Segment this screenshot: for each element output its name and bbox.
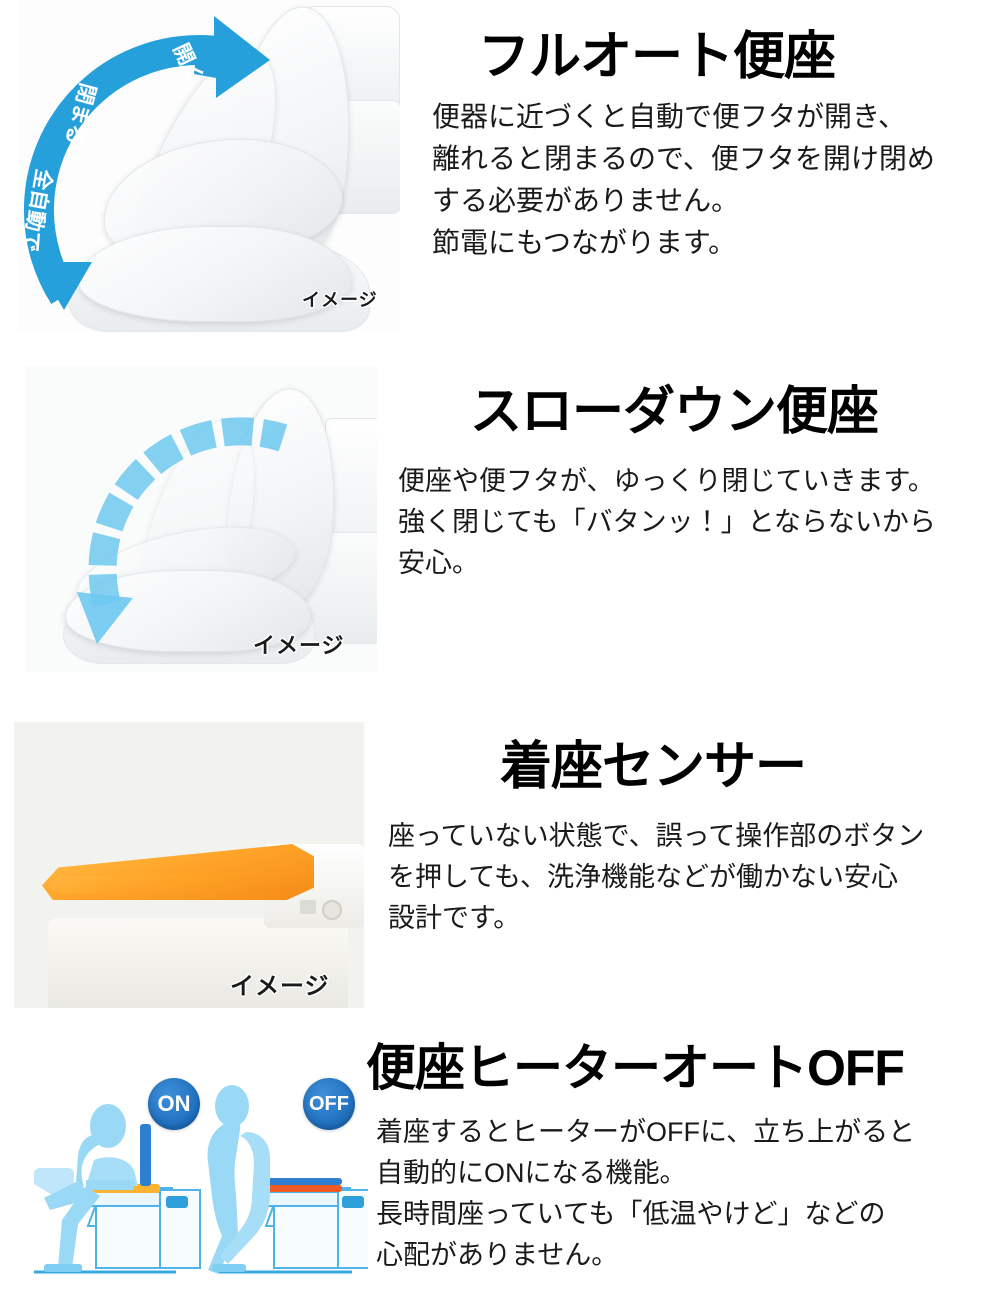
feature-section-full-auto-seat: 開く 閉まる 全自動で イメージ フルオート便座 便器に近づくと自動で便フタが開… [0,0,1000,345]
image-caption-imeji: イメージ [230,966,330,1001]
auto-open-close-arrow-icon [18,0,400,332]
section-title-seating-sensor: 着座センサー [500,724,806,799]
image-caption-imeji: イメージ [253,628,345,660]
seat-hinge-shape [300,900,316,914]
feature-section-seating-sensor: イメージ 着座センサー 座っていない状態で、誤って操作部のボタン を押しても、洗… [0,710,1000,1015]
feature-image-full-auto-seat: 開く 閉まる 全自動で イメージ [18,0,400,332]
status-badge-on: ON [148,1078,200,1130]
section-body-seating-sensor: 座っていない状態で、誤って操作部のボタン を押しても、洗浄機能などが働かない安心… [388,816,998,939]
feature-section-slow-down-seat: イメージ スローダウン便座 便座や便フタが、ゆっくり閉じていきます。 強く閉じて… [0,355,1000,685]
section-body-seat-heater-auto-off: 着座するとヒーターがOFFに、立ち上がると 自動的にONになる機能。 長時間座っ… [376,1112,996,1276]
image-caption-imeji: イメージ [302,286,378,312]
section-body-full-auto-seat: 便器に近づくと自動で便フタが開き、 離れると閉まるので、便フタを開け閉め する必… [432,96,992,264]
feature-section-seat-heater-auto-off: ON OFF 便座ヒーターオートOFF 着座するとヒーターがOFFに、立ち上がる… [0,1020,1000,1300]
seat-button-shape [322,900,342,920]
feature-image-slow-down-seat: イメージ [25,366,377,672]
section-title-full-auto-seat: フルオート便座 [478,14,835,89]
feature-image-seat-heater-auto-off: ON OFF [0,1040,368,1300]
section-body-slow-down-seat: 便座や便フタが、ゆっくり閉じていきます。 強く閉じても「バタンッ！」とならないか… [398,461,998,584]
section-title-slow-down-seat: スローダウン便座 [470,369,878,444]
feature-image-seating-sensor: イメージ [14,722,364,1008]
section-title-seat-heater-auto-off: 便座ヒーターオートOFF [366,1028,904,1100]
slow-close-arrow-icon [25,366,377,672]
status-badge-off: OFF [303,1078,355,1130]
